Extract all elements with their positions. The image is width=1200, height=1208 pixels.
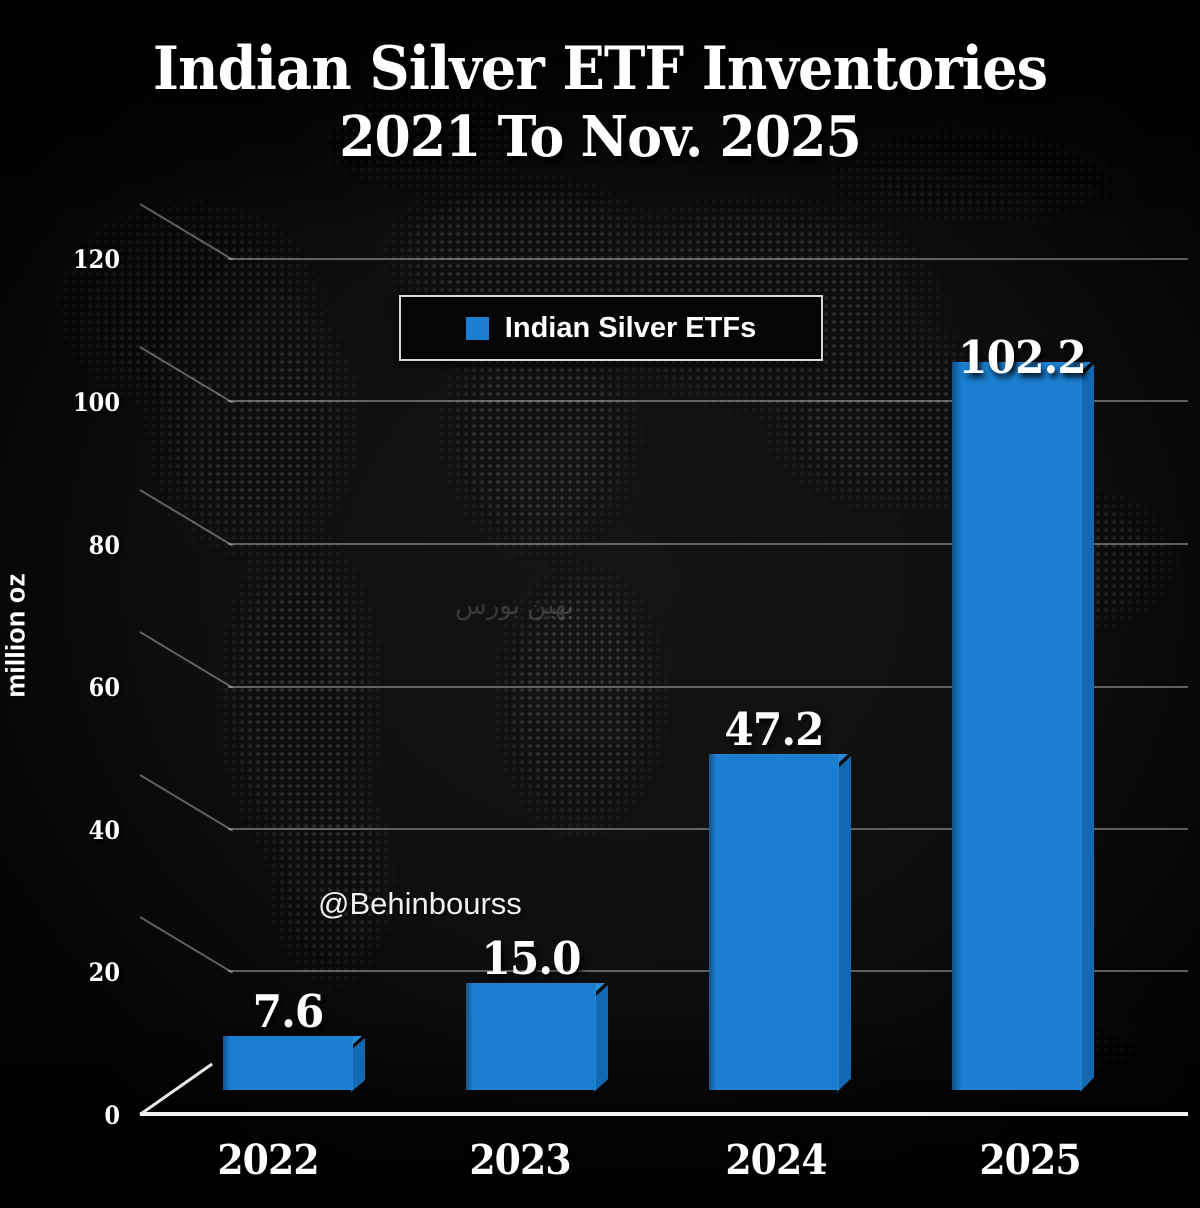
y-tick-label-120: 120	[12, 245, 120, 274]
bar-2022-side-face	[351, 1038, 365, 1092]
y-axis-title: million oz	[1, 536, 32, 736]
chart-canvas: Indian Silver ETF Inventories 2021 To No…	[0, 0, 1200, 1208]
watermark-handle: @Behinbourss	[318, 886, 522, 922]
bar-2023[interactable]	[466, 983, 606, 1106]
bar-2023-front-face	[466, 983, 596, 1090]
gridline-120	[228, 258, 1188, 260]
bar-2025-value-label: 102.2	[947, 331, 1097, 384]
gridline-depth-80	[139, 489, 233, 546]
bar-2024-value-label: 47.2	[708, 703, 840, 756]
bar-2024-front-face	[709, 754, 839, 1090]
bar-2022[interactable]	[223, 1036, 363, 1106]
chart-legend[interactable]: Indian Silver ETFs	[399, 295, 823, 361]
bar-2023-side-face	[594, 985, 608, 1092]
x-tick-label-2022: 2022	[204, 1136, 333, 1184]
bar-2024-side-face	[837, 756, 851, 1092]
bar-2022-left-shading	[223, 1036, 230, 1090]
y-tick-label-100: 100	[12, 388, 120, 417]
chart-title-line-2: 2021 To Nov. 2025	[42, 104, 1158, 170]
bar-2025[interactable]	[952, 362, 1092, 1106]
gridline-depth-60	[139, 631, 233, 688]
bar-2023-left-shading	[466, 983, 473, 1090]
legend-swatch-icon	[466, 317, 489, 340]
x-axis-baseline	[140, 1112, 1188, 1116]
gridline-depth-120	[139, 203, 233, 260]
bar-2023-value-label: 15.0	[465, 932, 597, 985]
bar-2022-front-face	[223, 1036, 353, 1090]
x-tick-label-2023: 2023	[456, 1136, 585, 1184]
gridline-depth-40	[139, 774, 233, 831]
y-tick-label-0: 0	[12, 1101, 120, 1130]
y-tick-label-20: 20	[12, 958, 120, 987]
legend-label: Indian Silver ETFs	[505, 312, 756, 345]
x-tick-label-2025: 2025	[966, 1136, 1095, 1184]
chart-title-line-1: Indian Silver ETF Inventories	[42, 34, 1158, 104]
bar-2024[interactable]	[709, 754, 849, 1106]
bar-2024-left-shading	[709, 754, 716, 1090]
bar-2025-side-face	[1080, 364, 1094, 1092]
gridline-depth-100	[139, 346, 233, 403]
bar-2025-left-shading	[952, 362, 962, 1090]
y-tick-label-40: 40	[12, 816, 120, 845]
chart-title: Indian Silver ETF Inventories 2021 To No…	[0, 34, 1200, 170]
gridline-depth-20	[139, 916, 233, 973]
bar-2025-front-face	[952, 362, 1082, 1090]
x-tick-label-2024: 2024	[712, 1136, 841, 1184]
plot-area: 120 100 80 60 40 20 0 million oz 7.6 15.…	[0, 0, 1200, 1208]
bar-2022-value-label: 7.6	[222, 985, 354, 1038]
x-axis-depth-edge	[139, 1063, 213, 1116]
